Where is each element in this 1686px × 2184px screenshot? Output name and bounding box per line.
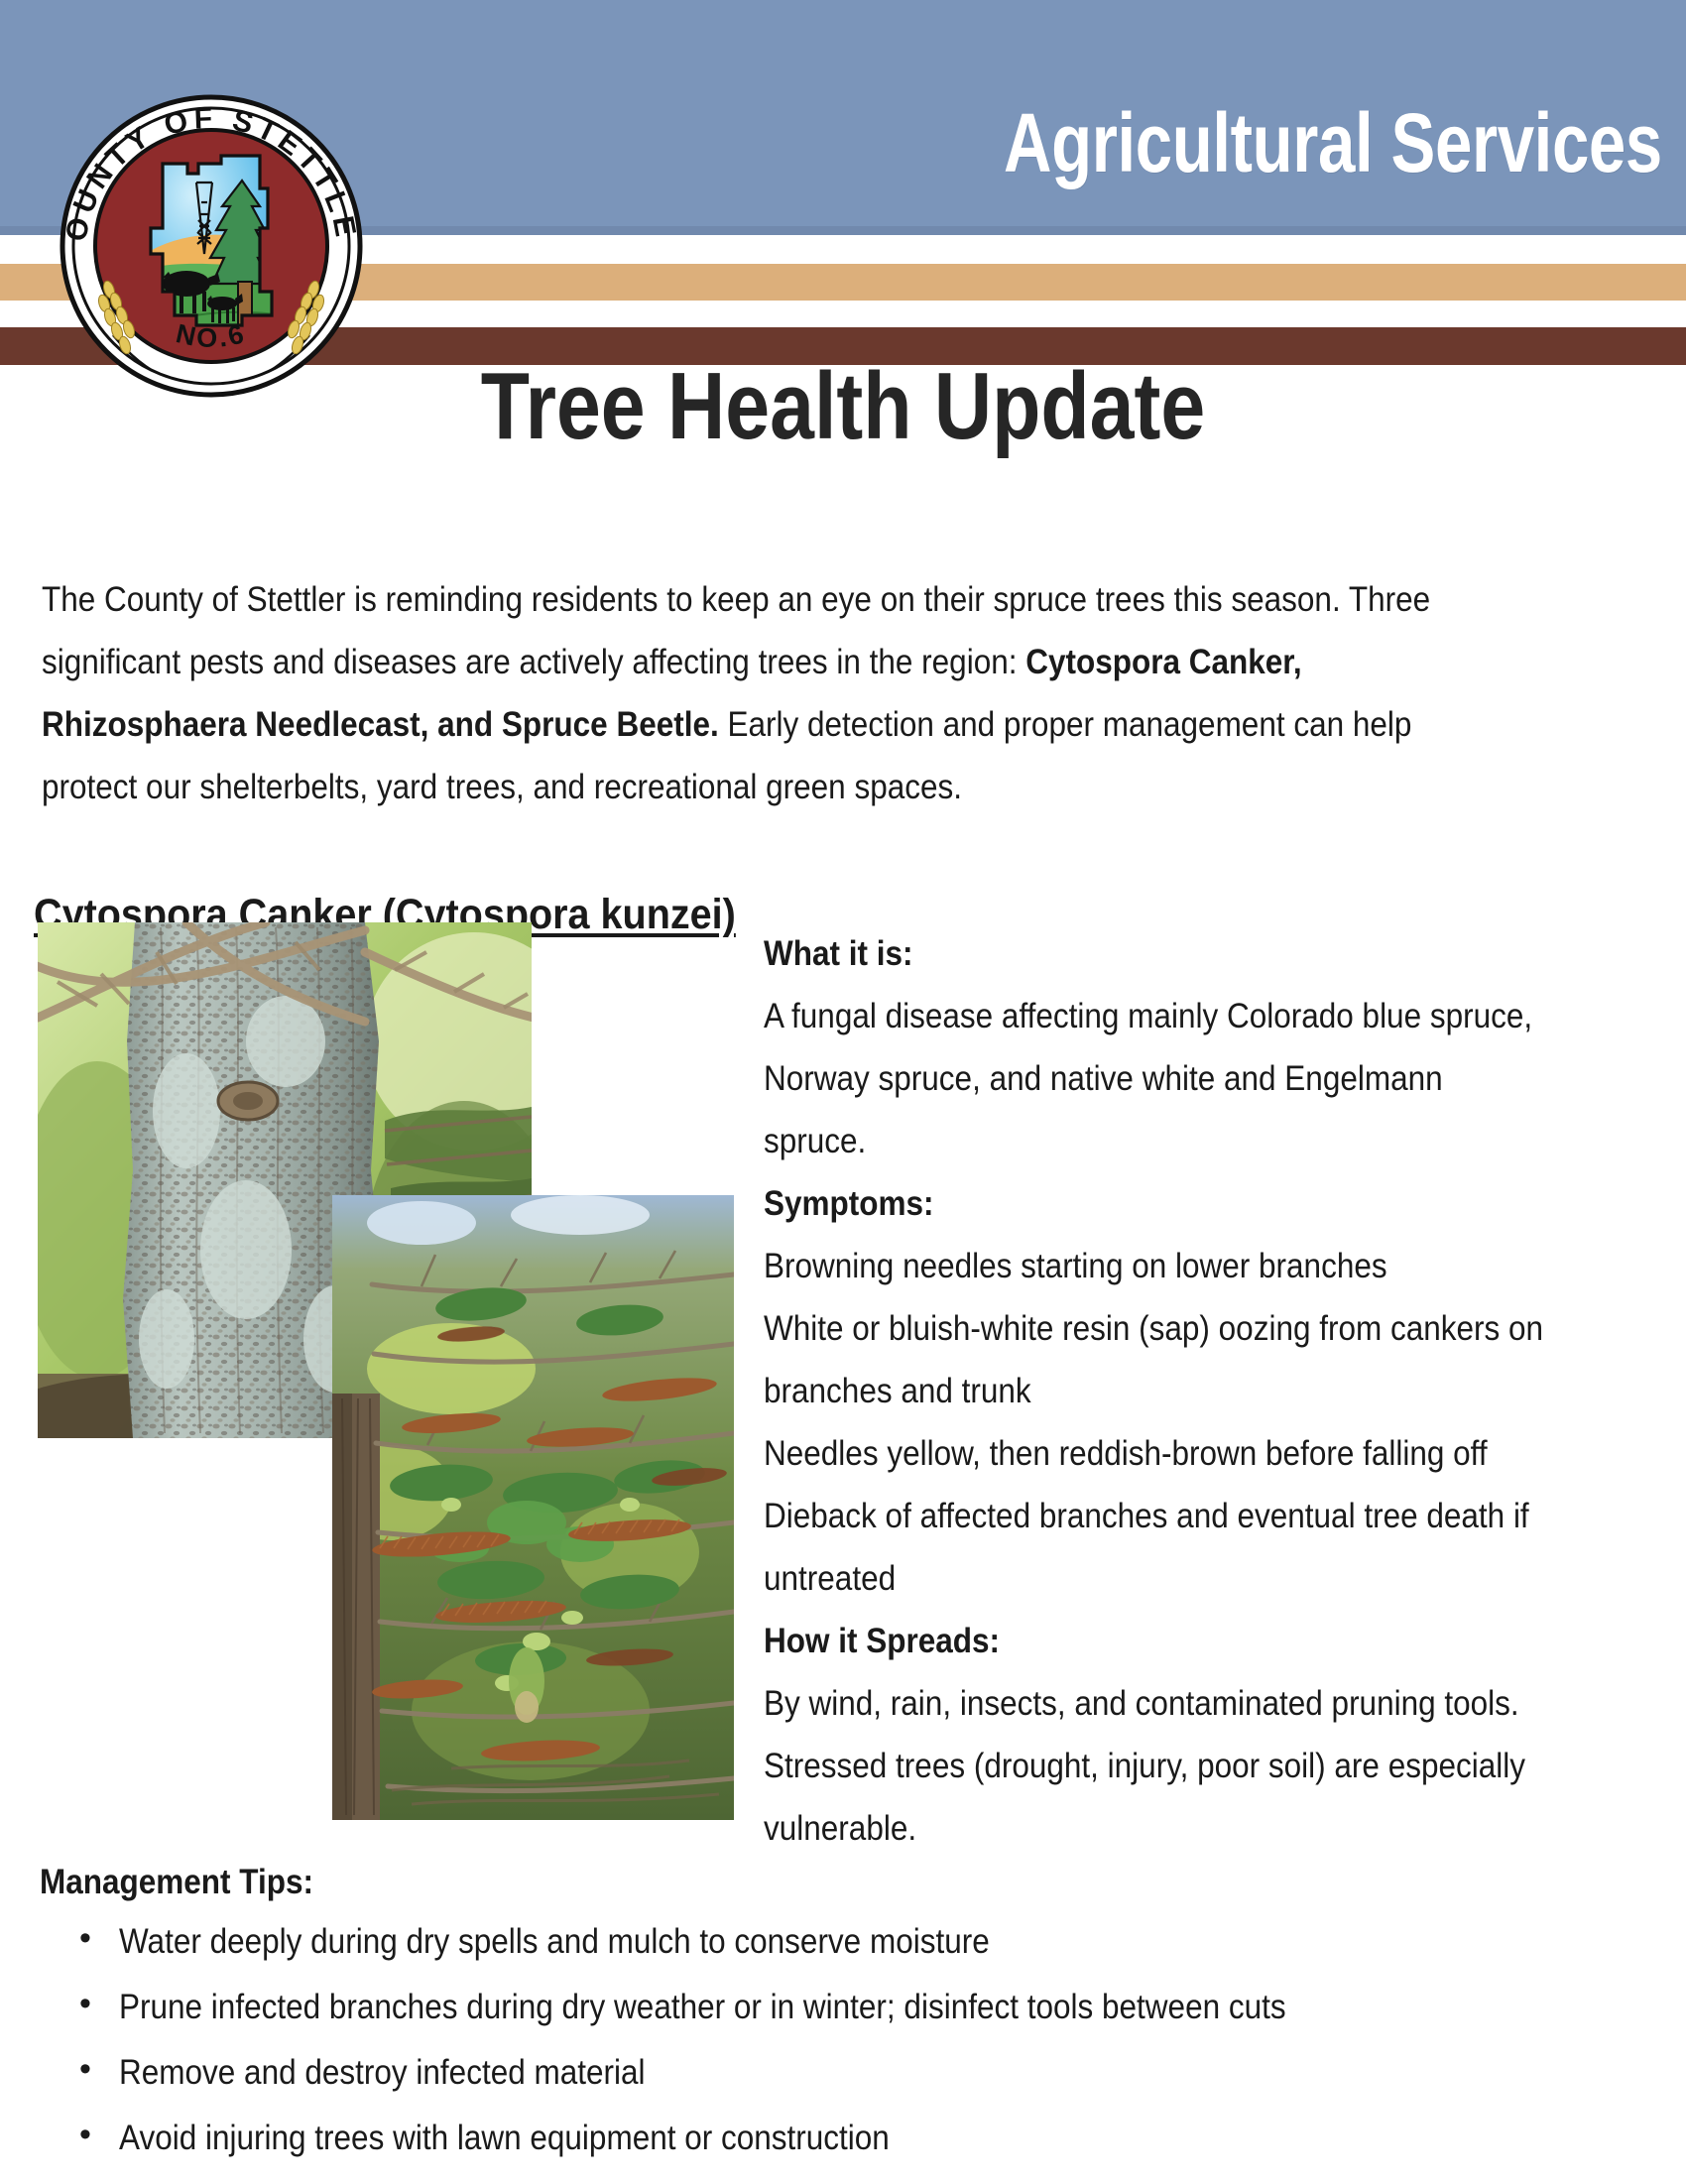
list-item: Avoid injuring trees with lawn equipment… [71, 2119, 1658, 2158]
what-it-is-label: What it is: [764, 922, 1549, 985]
intro-paragraph: The County of Stettler is reminding resi… [42, 568, 1479, 818]
symptoms-label: Symptoms: [764, 1172, 1549, 1235]
county-seal-logo: COUNTY OF STETTLER NO.6 [48, 79, 375, 407]
symptom-item: Dieback of affected branches and eventua… [764, 1485, 1549, 1610]
management-tips-label: Management Tips: [40, 1863, 313, 1902]
list-item: Remove and destroy infected material [71, 2053, 1658, 2093]
what-it-is-text: A fungal disease affecting mainly Colora… [764, 985, 1549, 1172]
photo-spruce-needles-browning [332, 1195, 734, 1820]
management-tip-text: Prune infected branches during dry weath… [119, 1988, 1505, 2027]
management-tip-text: Water deeply during dry spells and mulch… [119, 1922, 1505, 1962]
list-item: Water deeply during dry spells and mulch… [71, 1922, 1658, 1962]
management-tips-list: Water deeply during dry spells and mulch… [71, 1922, 1658, 2184]
management-tip-text: Avoid injuring trees with lawn equipment… [119, 2119, 1505, 2158]
symptom-item: Browning needles starting on lower branc… [764, 1235, 1549, 1297]
symptom-item: White or bluish-white resin (sap) oozing… [764, 1297, 1549, 1422]
symptom-item: Needles yellow, then reddish-brown befor… [764, 1422, 1549, 1485]
management-tip-text: Remove and destroy infected material [119, 2053, 1505, 2093]
list-item: Prune infected branches during dry weath… [71, 1988, 1658, 2027]
how-it-spreads-label: How it Spreads: [764, 1610, 1549, 1672]
how-it-spreads-text: By wind, rain, insects, and contaminated… [764, 1672, 1549, 1860]
cytospora-details-column: What it is: A fungal disease affecting m… [764, 922, 1549, 1860]
department-title: Agricultural Services [1004, 95, 1662, 191]
